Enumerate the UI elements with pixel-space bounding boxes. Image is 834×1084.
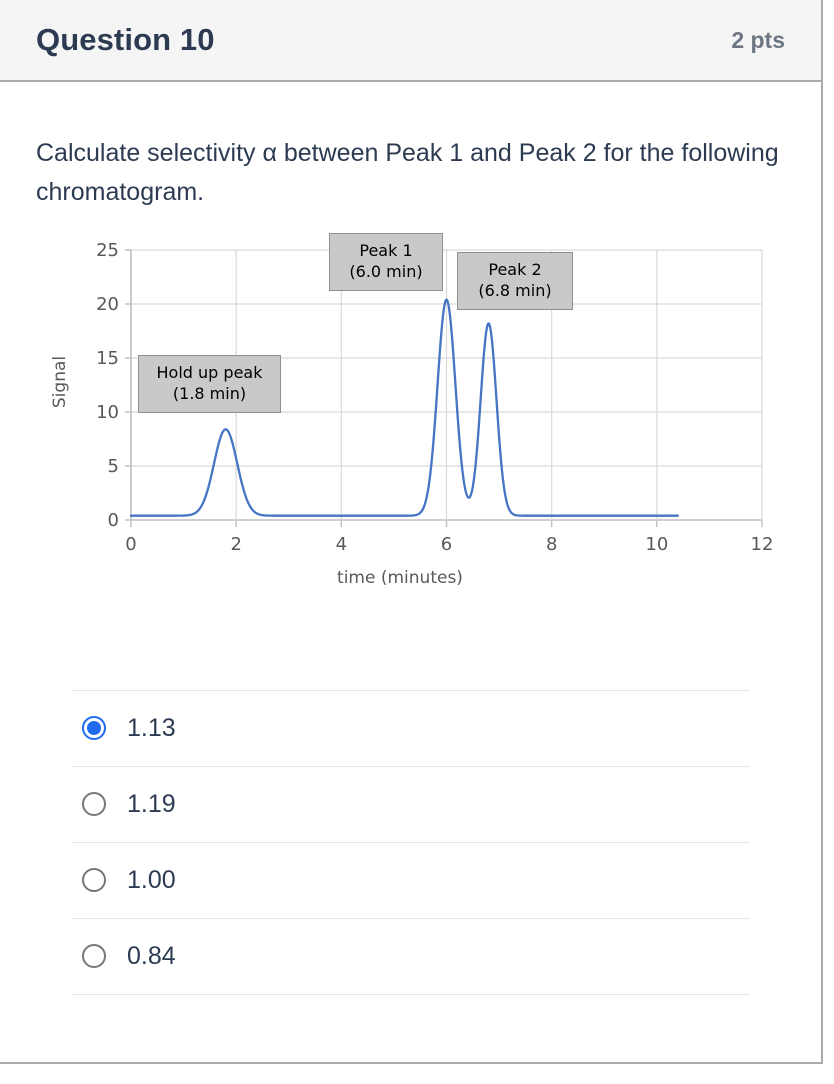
y-tick-label: 20 xyxy=(96,294,119,315)
question-card: Question 10 2 pts Calculate selectivity … xyxy=(0,0,823,1064)
annotation-peak1-line1: Peak 1 xyxy=(359,241,412,260)
answer-option-1[interactable]: 1.19 xyxy=(71,767,750,843)
answer-option-label: 1.00 xyxy=(127,866,176,895)
answer-option-label: 1.13 xyxy=(127,714,176,743)
annotation-holdup-line2: (1.8 min) xyxy=(149,383,270,405)
x-tick-label: 2 xyxy=(230,534,241,555)
annotation-holdup-peak: Hold up peak (1.8 min) xyxy=(138,355,281,413)
y-tick-label: 15 xyxy=(96,348,119,369)
x-tick-label: 4 xyxy=(336,534,347,555)
radio-unselected[interactable] xyxy=(82,792,106,816)
x-tick-label: 6 xyxy=(441,534,452,555)
answer-option-label: 0.84 xyxy=(127,942,176,971)
chromatogram-chart: 0510152025024681012 Hold up peak (1.8 mi… xyxy=(50,230,790,590)
annotation-peak-2: Peak 2 (6.8 min) xyxy=(457,252,573,310)
x-tick-label: 12 xyxy=(751,534,774,555)
annotation-peak2-line2: (6.8 min) xyxy=(468,280,562,302)
question-header: Question 10 2 pts xyxy=(0,0,821,82)
points-badge: 2 pts xyxy=(731,27,785,54)
question-body: Calculate selectivity α between Peak 1 a… xyxy=(0,82,821,995)
annotation-peak-1: Peak 1 (6.0 min) xyxy=(329,233,443,291)
radio-selected[interactable] xyxy=(82,716,106,740)
answer-option-0[interactable]: 1.13 xyxy=(71,691,750,767)
answer-option-3[interactable]: 0.84 xyxy=(71,919,750,995)
annotation-holdup-line1: Hold up peak xyxy=(157,363,263,382)
y-axis-title: Signal xyxy=(50,355,70,407)
y-tick-label: 25 xyxy=(96,240,119,261)
page-title: Question 10 xyxy=(36,22,215,58)
y-tick-label: 5 xyxy=(108,456,119,477)
x-tick-label: 8 xyxy=(546,534,557,555)
x-axis-title: time (minutes) xyxy=(50,568,750,588)
y-tick-label: 0 xyxy=(108,510,119,531)
radio-unselected[interactable] xyxy=(82,868,106,892)
answer-option-2[interactable]: 1.00 xyxy=(71,843,750,919)
annotation-peak1-line2: (6.0 min) xyxy=(340,261,432,283)
x-tick-label: 0 xyxy=(125,534,136,555)
radio-unselected[interactable] xyxy=(82,944,106,968)
annotation-peak2-line1: Peak 2 xyxy=(488,260,541,279)
y-tick-label: 10 xyxy=(96,402,119,423)
answer-option-label: 1.19 xyxy=(127,790,176,819)
answer-options: 1.131.191.000.84 xyxy=(71,690,750,995)
question-prompt: Calculate selectivity α between Peak 1 a… xyxy=(36,134,785,212)
x-tick-label: 10 xyxy=(645,534,668,555)
